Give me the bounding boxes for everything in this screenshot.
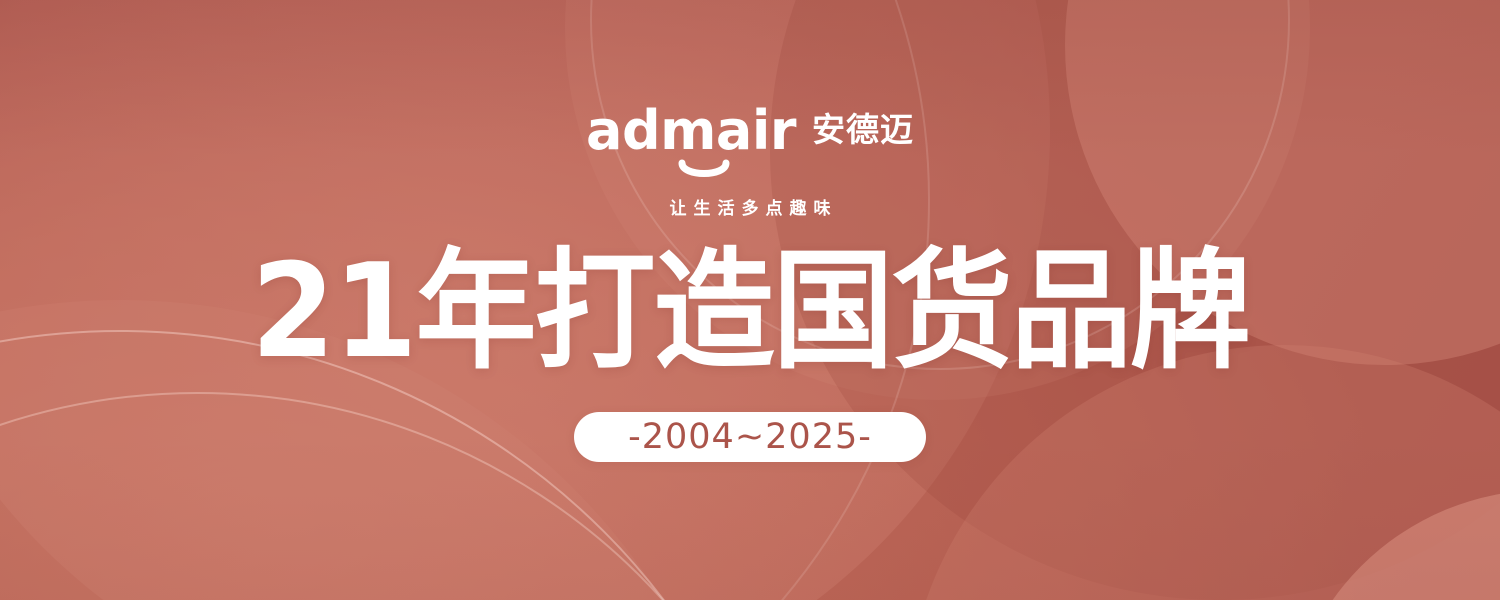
brand-anniversary-banner: admair 安德迈 让生活多点趣味 21年打造国货品牌 -2004~2025-	[0, 0, 1500, 600]
logo-wordmark: admair	[586, 104, 796, 158]
banner-content: admair 安德迈 让生活多点趣味 21年打造国货品牌 -2004~2025-	[0, 0, 1500, 600]
logo-lockup: admair 安德迈 让生活多点趣味	[0, 104, 1500, 219]
smile-curve-icon	[678, 159, 730, 185]
page-title: 21年打造国货品牌	[53, 246, 1448, 376]
year-range-badge: -2004~2025-	[574, 412, 926, 462]
logo-row: admair 安德迈	[586, 104, 914, 158]
year-range-text: -2004~2025-	[628, 420, 872, 455]
logo-chinese-name: 安德迈	[812, 113, 914, 149]
logo-tagline: 让生活多点趣味	[663, 194, 838, 219]
logo-wordmark-text: admair	[586, 99, 796, 162]
